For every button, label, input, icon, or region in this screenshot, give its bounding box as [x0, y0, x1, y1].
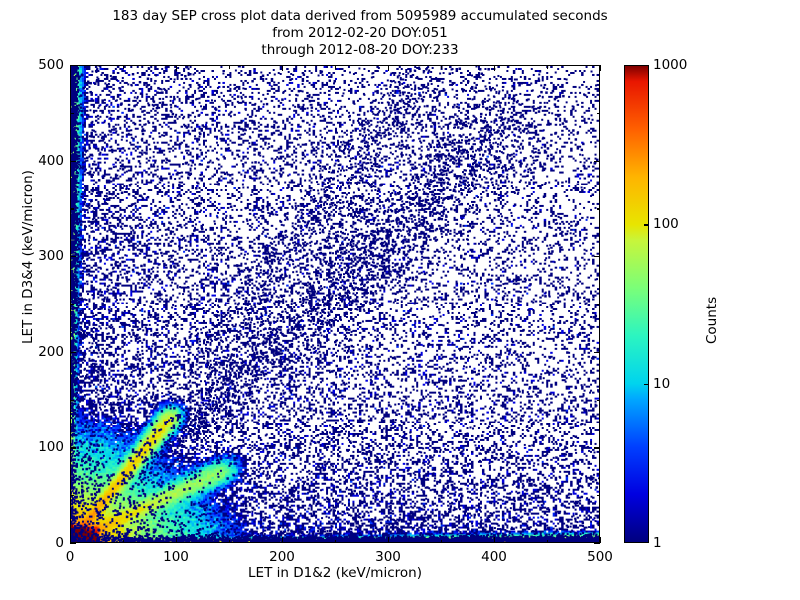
x-axis-minor-tick	[441, 540, 442, 544]
colorbar-tick-label: 10	[653, 376, 670, 392]
x-axis-tick-label: 300	[375, 549, 401, 565]
y-axis-major-tick	[70, 352, 76, 353]
colorbar-tick-label: 1000	[653, 57, 687, 73]
x-axis-minor-tick-top	[123, 65, 124, 69]
x-axis-major-tick-top	[494, 65, 495, 71]
y-axis-minor-tick-right	[597, 208, 601, 209]
y-axis-major-tick-right	[594, 352, 600, 353]
colorbar-tick	[644, 384, 649, 385]
x-axis-major-tick-top	[176, 65, 177, 71]
x-axis-tick-label: 0	[66, 549, 75, 565]
plot-axes	[70, 65, 600, 543]
y-axis-minor-tick	[70, 495, 74, 496]
y-axis-major-tick-right	[594, 543, 600, 544]
x-axis-label: LET in D1&2 (keV/micron)	[70, 565, 600, 581]
x-axis-minor-tick-top	[229, 65, 230, 69]
colorbar-label: Counts	[704, 304, 720, 344]
x-axis-tick-label: 400	[481, 549, 507, 565]
y-axis-major-tick	[70, 161, 76, 162]
x-axis-major-tick	[494, 537, 495, 543]
y-axis-minor-tick	[70, 113, 74, 114]
y-axis-minor-tick-right	[597, 400, 601, 401]
y-axis-tick-label: 0	[22, 535, 64, 551]
x-axis-major-tick	[282, 537, 283, 543]
x-axis-major-tick-top	[600, 65, 601, 71]
y-axis-major-tick-right	[594, 447, 600, 448]
x-axis-major-tick-top	[388, 65, 389, 71]
x-axis-minor-tick	[335, 540, 336, 544]
colorbar-tick-label: 1	[653, 535, 662, 551]
y-axis-major-tick	[70, 65, 76, 66]
y-axis-major-tick	[70, 543, 76, 544]
y-axis-minor-tick	[70, 304, 74, 305]
x-axis-minor-tick	[123, 540, 124, 544]
x-axis-major-tick	[600, 537, 601, 543]
y-axis-minor-tick-right	[597, 113, 601, 114]
y-axis-major-tick	[70, 447, 76, 448]
x-axis-tick-label: 500	[587, 549, 613, 565]
y-axis-tick-label: 400	[22, 153, 64, 169]
y-axis-minor-tick-right	[597, 304, 601, 305]
y-axis-major-tick-right	[594, 161, 600, 162]
x-axis-minor-tick-top	[441, 65, 442, 69]
plot-title-line-3: through 2012-08-20 DOY:233	[0, 42, 720, 59]
y-axis-major-tick	[70, 256, 76, 257]
y-axis-minor-tick	[70, 400, 74, 401]
colorbar-tick	[644, 224, 649, 225]
colorbar	[624, 65, 649, 543]
x-axis-minor-tick-top	[335, 65, 336, 69]
y-axis-label: LET in D3&4 (keV/micron)	[20, 304, 36, 344]
x-axis-tick-label: 100	[163, 549, 189, 565]
x-axis-minor-tick-top	[547, 65, 548, 69]
x-axis-major-tick	[388, 537, 389, 543]
colorbar-gradient	[625, 66, 648, 542]
scatter-density-plot	[71, 66, 599, 542]
plot-title: 183 day SEP cross plot data derived from…	[0, 8, 720, 59]
plot-title-line-1: 183 day SEP cross plot data derived from…	[0, 8, 720, 25]
y-axis-minor-tick	[70, 208, 74, 209]
y-axis-major-tick-right	[594, 256, 600, 257]
y-axis-tick-label: 200	[22, 344, 64, 360]
y-axis-tick-label: 500	[22, 57, 64, 73]
colorbar-tick-label: 100	[653, 216, 679, 232]
x-axis-major-tick-top	[282, 65, 283, 71]
x-axis-major-tick	[176, 537, 177, 543]
plot-title-line-2: from 2012-02-20 DOY:051	[0, 25, 720, 42]
x-axis-minor-tick	[547, 540, 548, 544]
x-axis-tick-label: 200	[269, 549, 295, 565]
figure-canvas: 183 day SEP cross plot data derived from…	[0, 0, 800, 600]
x-axis-minor-tick	[229, 540, 230, 544]
y-axis-tick-label: 100	[22, 439, 64, 455]
y-axis-minor-tick-right	[597, 495, 601, 496]
y-axis-major-tick-right	[594, 65, 600, 66]
